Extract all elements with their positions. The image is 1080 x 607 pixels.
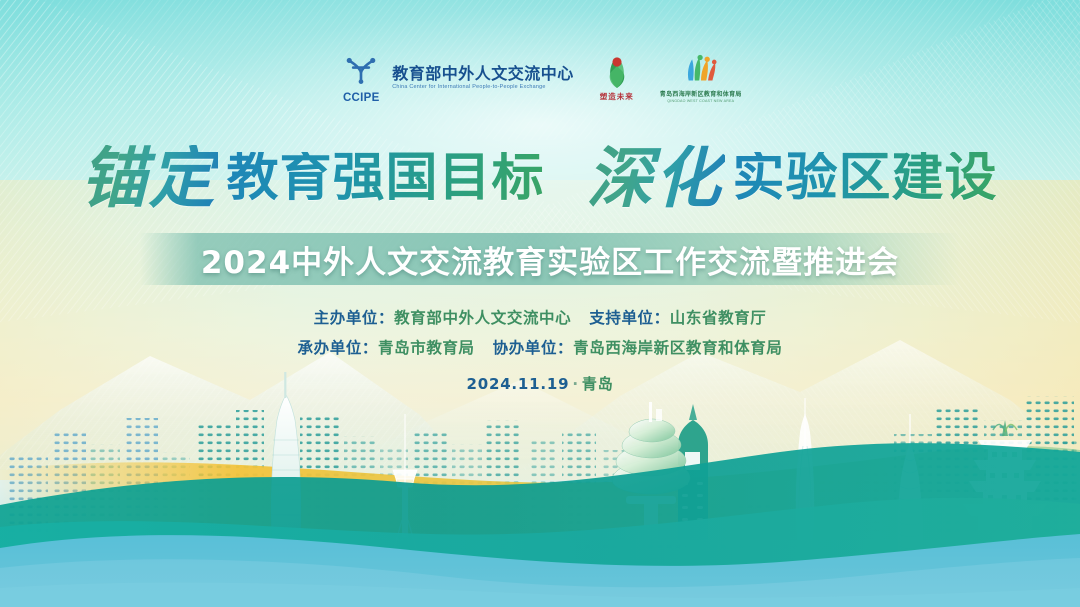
logo-people: 青岛西海岸新区教育和体育局 QINGDAO WEST COAST NEW ARE… (660, 54, 742, 103)
host-label: 主办单位： (314, 309, 395, 327)
organizer-value: 青岛市教育局 (378, 339, 475, 357)
support-label: 支持单位： (589, 309, 670, 327)
support-value: 山东省教育厅 (670, 309, 767, 327)
organizer-block: 主办单位：教育部中外人文交流中心支持单位：山东省教育厅 承办单位：青岛市教育局协… (0, 303, 1080, 394)
logo-ccipe: CCIPE 教育部中外人文交流中心 China Center for Inter… (338, 55, 574, 101)
subtitle-band: 2024中外人文交流教育实验区工作交流暨推进会 (140, 233, 960, 285)
poster-canvas: CCIPE 教育部中外人文交流中心 China Center for Inter… (0, 0, 1080, 607)
green-leaf-logo-icon (600, 55, 634, 89)
headline-bold-1: 教育强国目标 (226, 152, 544, 204)
logo-bar: CCIPE 教育部中外人文交流中心 China Center for Inter… (0, 48, 1080, 108)
ccipe-logo-icon: CCIPE (338, 55, 384, 101)
people-logo-name-cn: 青岛西海岸新区教育和体育局 (660, 89, 742, 98)
colorful-people-logo-icon (681, 54, 721, 88)
people-logo-name-en: QINGDAO WEST COAST NEW AREA (667, 99, 734, 103)
headline-script-1: 锚定 (78, 145, 218, 211)
date-separator: · (569, 375, 582, 393)
coorganizer-label: 协办单位： (493, 339, 574, 357)
logo-leaf: 塑造未来 (600, 55, 634, 102)
event-city: 青岛 (582, 375, 614, 393)
main-headline: 锚定 教育强国目标 深化 实验区建设 (0, 134, 1080, 222)
organizer-label: 承办单位： (298, 339, 379, 357)
organizer-line-1: 主办单位：教育部中外人文交流中心支持单位：山东省教育厅 (0, 303, 1080, 333)
event-date: 2024.11.19 (466, 375, 569, 393)
headline-script-2: 深化 (585, 145, 725, 211)
host-value: 教育部中外人文交流中心 (394, 309, 571, 327)
coorganizer-value: 青岛西海岸新区教育和体育局 (573, 339, 782, 357)
leaf-logo-name: 塑造未来 (600, 91, 634, 102)
event-date-location: 2024.11.19·青岛 (0, 373, 1080, 394)
ccipe-wordmark: 教育部中外人文交流中心 China Center for Internation… (392, 66, 574, 91)
ccipe-name-cn: 教育部中外人文交流中心 (392, 66, 574, 83)
subtitle-text: 2024中外人文交流教育实验区工作交流暨推进会 (201, 237, 899, 282)
organizer-line-2: 承办单位：青岛市教育局协办单位：青岛西海岸新区教育和体育局 (0, 333, 1080, 363)
ccipe-name-en: China Center for International People-to… (392, 84, 574, 90)
ccipe-acronym: CCIPE (338, 92, 384, 104)
headline-bold-2: 实验区建设 (733, 152, 998, 204)
